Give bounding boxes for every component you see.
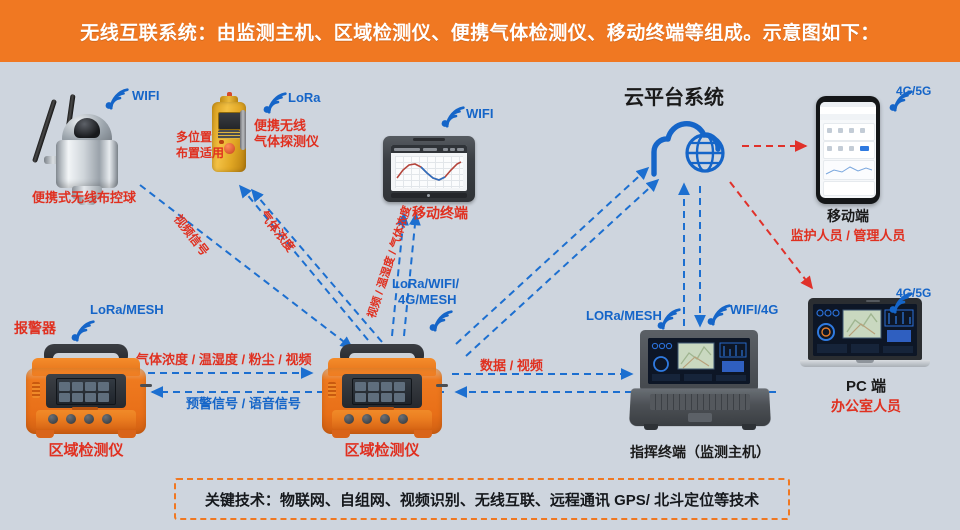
cloud-platform-title: 云平台系统 <box>624 86 724 111</box>
device-screen <box>218 112 242 130</box>
laptop-foot <box>644 424 658 430</box>
page-title: 无线互联系统：由监测主机、区域检测仪、便携气体检测仪、移动终端等组成。示意图如下… <box>80 18 880 45</box>
ball-camera-radio-label: WIFI <box>132 88 159 104</box>
link-label-video-signal: 视频信号 <box>170 212 211 259</box>
keyboard-icon <box>650 394 750 410</box>
tablet-home-dot <box>427 194 430 197</box>
phone-screen <box>820 102 876 198</box>
phone-radio-label: 4G/5G <box>896 84 931 99</box>
alarm-radio-label: LoRa/MESH <box>90 302 164 318</box>
wifi-icon <box>66 318 96 344</box>
control-knob[interactable] <box>66 414 76 424</box>
device-area-detector-left[interactable] <box>22 344 150 440</box>
area-detector-left-label: 区域检测仪 <box>16 442 156 461</box>
belt-clip <box>240 110 246 150</box>
device-area-detector-center[interactable] <box>318 344 446 440</box>
tablet-screen <box>391 145 467 191</box>
wire-center-to-pgd <box>240 186 368 340</box>
wire-ball-to-center <box>140 185 352 348</box>
pc-label: PC 端 <box>816 378 916 397</box>
control-knob[interactable] <box>48 414 58 424</box>
tablet-radio-label: WIFI <box>466 106 493 122</box>
webcam-icon <box>866 300 880 302</box>
wifi-icon <box>100 86 130 112</box>
device-tablet[interactable] <box>383 136 475 202</box>
link-label-data-video: 数据 / 视频 <box>480 358 543 374</box>
header-banner: 无线互联系统：由监测主机、区域检测仪、便携气体检测仪、移动终端等组成。示意图如下… <box>0 0 960 62</box>
alarm-label: 报警器 <box>14 320 56 338</box>
phone-chart <box>823 160 875 180</box>
device-leg <box>414 430 432 438</box>
antenna-icon <box>140 384 152 387</box>
tablet-speaker <box>413 138 445 141</box>
phone-label: 移动端 <box>806 208 890 226</box>
device-mobile-phone[interactable] <box>816 96 880 204</box>
diagram-canvas: 无线互联系统：由监测主机、区域检测仪、便携气体检测仪、移动终端等组成。示意图如下… <box>0 0 960 530</box>
center-radio-label-line2: 4G/MESH <box>398 292 457 308</box>
control-knob[interactable] <box>102 414 112 424</box>
device-leg <box>36 430 54 438</box>
pgd-note-line2: 布置适用 <box>176 146 224 161</box>
control-knob[interactable] <box>380 414 390 424</box>
pgd-label-line1: 便携无线 <box>254 118 306 134</box>
link-label-downlink-alarm: 预警信号 / 语音信号 <box>186 396 301 412</box>
key-technologies-text: 关键技术：物联网、自组网、视频识别、无线互联、远程通讯 GPS/ 北斗定位等技术 <box>205 489 759 510</box>
wifi-icon <box>702 302 732 328</box>
link-label-gas-concentration: 气体浓度 <box>256 208 297 255</box>
led-indicator <box>219 140 224 144</box>
brand-mark <box>368 407 394 410</box>
control-knob[interactable] <box>362 414 372 424</box>
power-button[interactable] <box>224 143 235 154</box>
camera-lens <box>74 118 100 138</box>
device-display <box>56 378 116 405</box>
tablet-toolbar <box>391 145 467 153</box>
ball-camera-label: 便携式无线布控球 <box>22 190 146 206</box>
tablet-chart <box>395 156 463 188</box>
link-label-uplink-metrics: 气体浓度 / 温湿度 / 粉尘 / 视频 <box>136 352 312 368</box>
device-leg <box>118 430 136 438</box>
device-portable-gas-detector[interactable] <box>212 96 248 174</box>
camera-body <box>56 140 118 188</box>
phone-card <box>823 181 875 196</box>
control-knob[interactable] <box>344 414 354 424</box>
antenna-icon <box>436 384 448 387</box>
pgd-radio-label: LoRa <box>288 90 321 106</box>
phone-subtitle: 监护人员 / 管理人员 <box>790 228 906 244</box>
center-radio-label-line1: LoRa/WIFI/ <box>392 276 459 292</box>
vent-icon <box>328 382 336 398</box>
wifi-icon <box>258 90 288 116</box>
phone-navbar <box>820 114 876 120</box>
vent-icon <box>32 382 40 398</box>
command-radio-right-label: WIFI/4G <box>730 302 778 318</box>
pgd-note-line1: 多位置 <box>176 130 212 145</box>
tablet-label: 移动终端 <box>412 205 468 223</box>
command-screen <box>648 338 750 384</box>
pc-subtitle: 办公室人员 <box>806 398 926 416</box>
pgd-label-line2: 气体探测仪 <box>254 134 319 150</box>
laptop-foot <box>742 424 756 430</box>
wifi-icon <box>424 308 454 334</box>
wifi-icon <box>436 104 466 130</box>
control-knob[interactable] <box>398 414 408 424</box>
device-display <box>352 378 412 405</box>
device-command-terminal[interactable] <box>630 330 770 438</box>
pc-radio-label: 4G/5G <box>896 286 931 301</box>
cloud-globe-icon <box>640 116 736 182</box>
antenna-icon <box>32 99 57 163</box>
key-technologies-box: 关键技术：物联网、自组网、视频识别、无线互联、远程通讯 GPS/ 北斗定位等技术 <box>174 478 790 520</box>
control-knob[interactable] <box>84 414 94 424</box>
trackpad[interactable] <box>688 413 712 422</box>
laptop-notch <box>856 360 874 363</box>
sensor-grill-icon <box>218 130 240 139</box>
command-radio-left-label: LORa/MESH <box>586 308 662 324</box>
brand-mark <box>72 407 98 410</box>
command-terminal-label: 指挥终端（监测主机） <box>604 444 796 462</box>
area-detector-center-label: 区域检测仪 <box>312 442 452 461</box>
device-leg <box>332 430 350 438</box>
